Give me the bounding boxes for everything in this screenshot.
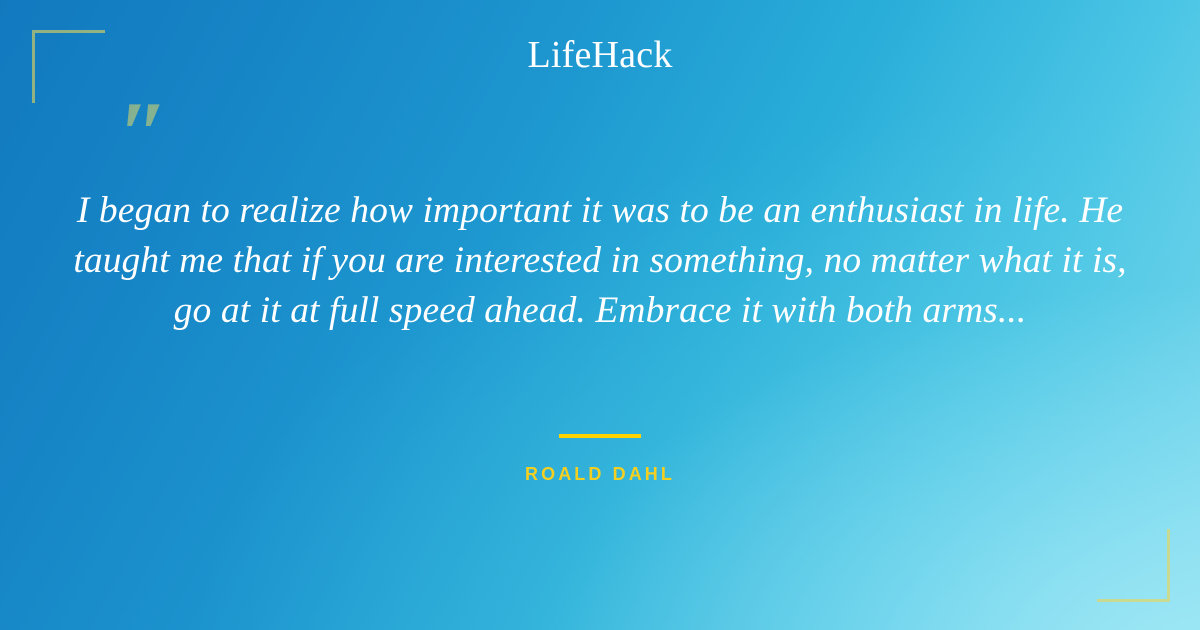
attribution: ROALD DAHL (0, 434, 1200, 485)
brand-logo: LifeHack (0, 36, 1200, 74)
quote-text: I began to realize how important it was … (60, 186, 1140, 336)
divider-rule (559, 434, 641, 438)
quote-card: LifeHack ″ I began to realize how import… (0, 0, 1200, 630)
quote-mark-icon: ″ (118, 88, 169, 180)
quote-author: ROALD DAHL (0, 464, 1200, 485)
corner-bracket-bottom-right-icon (1097, 529, 1170, 602)
quote-block: I began to realize how important it was … (60, 186, 1140, 336)
